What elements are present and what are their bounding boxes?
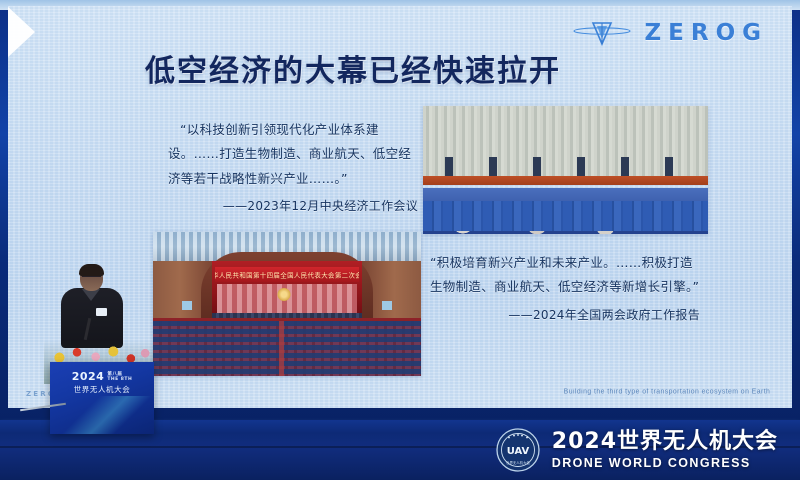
podium-year: 2024 [72, 370, 105, 383]
central-economic-work-conference-photo [423, 106, 708, 234]
slide-footer-tagline: Building the third type of transportatio… [563, 389, 770, 397]
zerog-wordmark: ZEROG [644, 20, 768, 46]
photo-side-screen-right [382, 301, 392, 310]
quote-source-2: ——2024年全国两会政府工作报告 [430, 304, 700, 327]
quote-text-2: “积极培育新兴产业和未来产业。……积极打造生物制造、商业航天、低空经济等新增长引… [430, 255, 699, 294]
svg-text:世界无人机大会: 世界无人机大会 [506, 460, 530, 465]
great-hall-npc-session-photo: 中华人民共和国第十四届全国人民代表大会第二次会议 [153, 232, 421, 376]
quote-text-1: “以科技创新引领现代化产业体系建设。……打造生物制造、商业航天、低空经济等若干战… [168, 122, 411, 186]
event-title-cn: 2024世界无人机大会 [552, 430, 778, 454]
quote-block-2: “积极培育新兴产业和未来产业。……积极打造生物制造、商业航天、低空经济等新增长引… [430, 251, 700, 327]
quote-source-1: ——2023年12月中央经济工作会议 [168, 195, 418, 218]
podium-event-name: 世界无人机大会 [50, 384, 154, 395]
photo-side-screen-left [182, 301, 192, 310]
photo-head-table [423, 176, 708, 185]
slide-title: 低空经济的大幕已经快速拉开 [145, 46, 561, 90]
podium-branding: 2024 第八届 THE 8TH 世界无人机大会 [50, 370, 154, 395]
photo-session-banner: 中华人民共和国第十四届全国人民代表大会第二次会议 [215, 267, 360, 283]
zerog-brand-logo: ZEROG [573, 20, 768, 46]
conference-stage: ZEROG 低空经济的大幕已经快速拉开 “以科技创新引领现代化产业体系建设。……… [0, 0, 800, 480]
photo-center-aisle [279, 321, 284, 376]
drone-arrow-icon [573, 20, 631, 46]
speaker-glasses [82, 276, 101, 281]
speaker-at-podium: 2024 第八届 THE 8TH 世界无人机大会 [44, 256, 154, 426]
speaker-badge [96, 308, 107, 316]
quote-block-1: “以科技创新引领现代化产业体系建设。……打造生物制造、商业航天、低空经济等若干战… [168, 118, 418, 219]
svg-text:UAV: UAV [506, 446, 529, 457]
podium-edition-cn: 第八届 [107, 372, 122, 377]
photo-delegate-seats [153, 321, 421, 376]
event-title-en: DRONE WORLD CONGRESS [552, 456, 778, 470]
decorative-chevron-icon [8, 6, 37, 58]
event-branding: UAV 世界无人机大会 2024世界无人机大会 DRONE WORLD CONG… [496, 428, 778, 472]
speaker-hair [79, 264, 104, 276]
podium-edition-en: THE 8TH [107, 377, 132, 382]
uav-seal-icon: UAV 世界无人机大会 [496, 428, 540, 472]
photo-national-emblem [278, 288, 291, 301]
photo-session-banner-text: 中华人民共和国第十四届全国人民代表大会第二次会议 [215, 270, 360, 280]
